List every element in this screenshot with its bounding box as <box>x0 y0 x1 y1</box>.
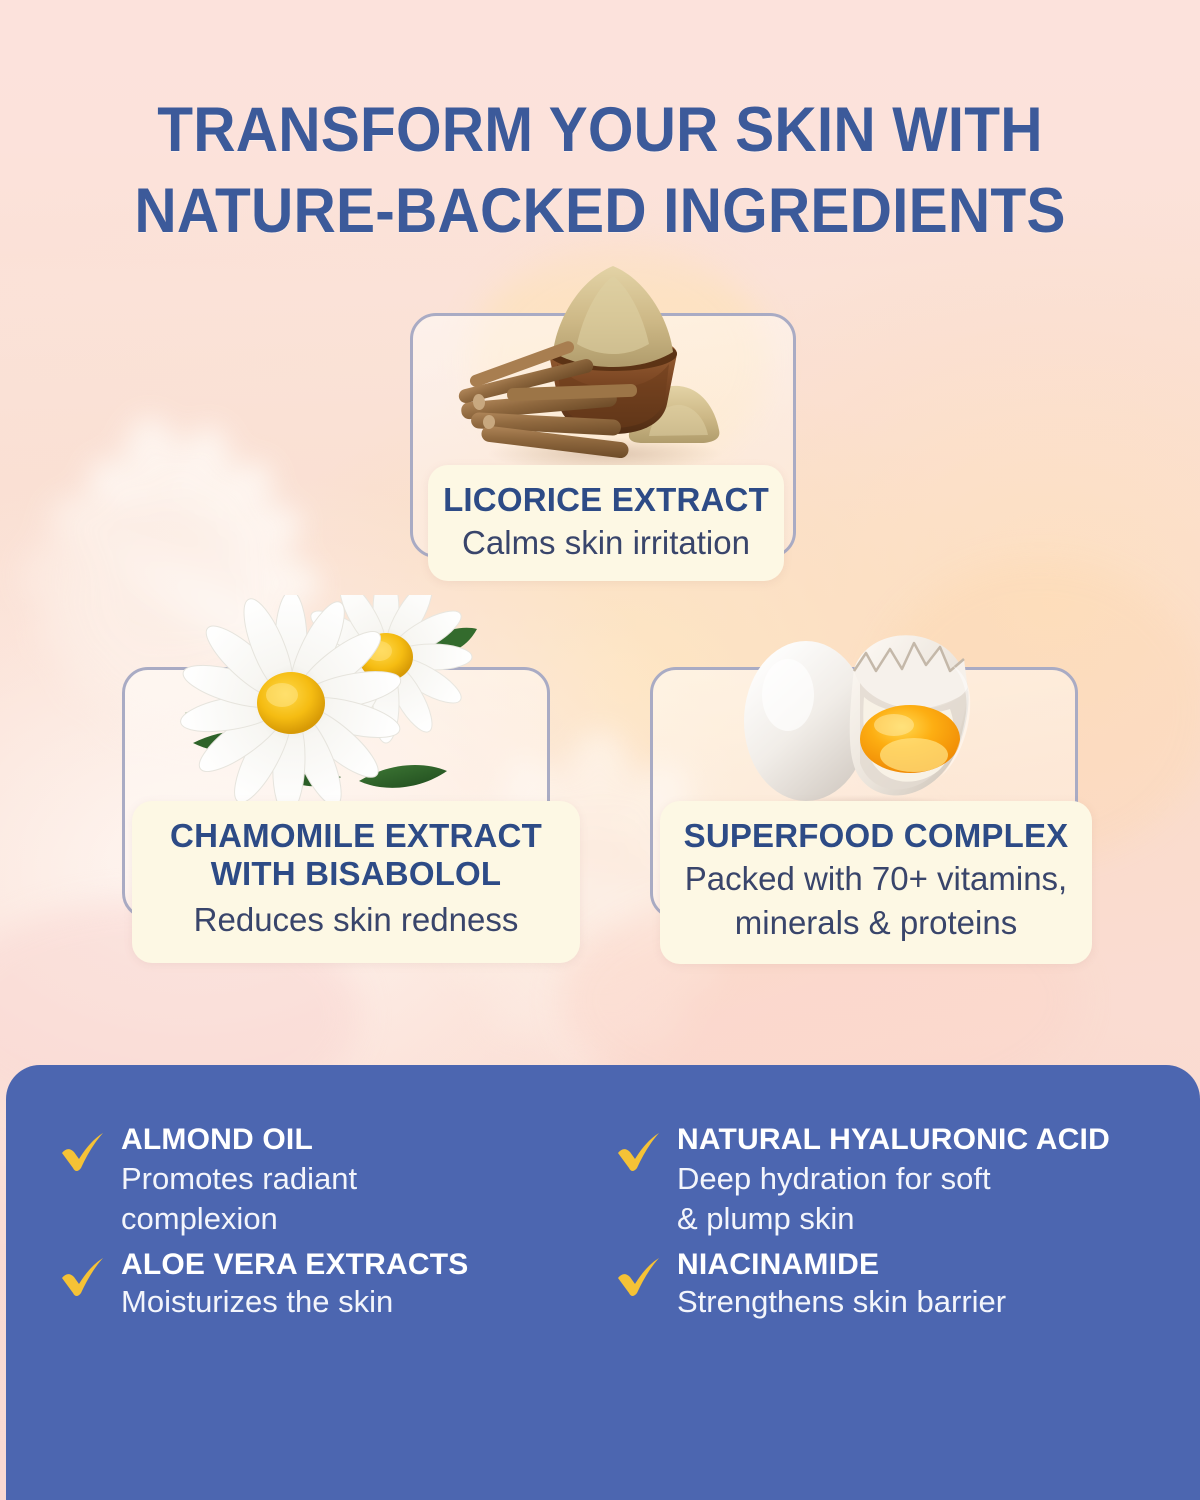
benefits-grid: ALMOND OIL Promotes radiant complexion N… <box>58 1123 1166 1321</box>
ingredient-card-licorice[interactable]: LICORICE EXTRACT Calms skin irritation <box>410 313 796 558</box>
card-label: SUPERFOOD COMPLEX Packed with 70+ vitami… <box>660 801 1092 964</box>
benefit-desc-line-2: & plump skin <box>677 1200 1110 1238</box>
benefit-title: NATURAL HYALURONIC ACID <box>677 1123 1110 1157</box>
chamomile-flowers-image <box>122 595 550 825</box>
card-title-line-1: CHAMOMILE EXTRACT <box>144 817 568 855</box>
benefit-title: ALOE VERA EXTRACTS <box>121 1248 469 1282</box>
card-title: SUPERFOOD COMPLEX <box>672 817 1080 855</box>
check-icon <box>614 1252 662 1300</box>
card-title-line-2: WITH BISABOLOL <box>144 855 568 893</box>
page-title: TRANSFORM YOUR SKIN WITH NATURE-BACKED I… <box>42 90 1158 251</box>
headline-line-1: TRANSFORM YOUR SKIN WITH <box>157 95 1042 165</box>
check-icon <box>614 1127 662 1175</box>
ingredients-infographic: TRANSFORM YOUR SKIN WITH NATURE-BACKED I… <box>0 0 1200 1500</box>
benefit-item-almond-oil[interactable]: ALMOND OIL Promotes radiant complexion <box>58 1123 588 1238</box>
card-label: CHAMOMILE EXTRACT WITH BISABOLOL Reduces… <box>132 801 580 963</box>
benefit-desc-line-1: Strengthens skin barrier <box>677 1283 1006 1321</box>
card-subtitle-line-1: Packed with 70+ vitamins, <box>672 859 1080 899</box>
benefit-desc-line-1: Moisturizes the skin <box>121 1283 469 1321</box>
card-subtitle-line-2: minerals & proteins <box>672 903 1080 943</box>
benefit-text: ALOE VERA EXTRACTS Moisturizes the skin <box>121 1248 469 1320</box>
benefit-text: NATURAL HYALURONIC ACID Deep hydration f… <box>677 1123 1110 1238</box>
cracked-egg-image <box>650 613 1078 825</box>
headline-line-2: NATURE-BACKED INGREDIENTS <box>42 171 1158 252</box>
benefit-desc-line-1: Promotes radiant <box>121 1160 357 1198</box>
benefit-text: ALMOND OIL Promotes radiant complexion <box>121 1123 357 1238</box>
benefit-desc-line-2: complexion <box>121 1200 357 1238</box>
benefit-item-niacinamide[interactable]: NIACINAMIDE Strengthens skin barrier <box>614 1248 1166 1320</box>
licorice-root-image <box>410 258 796 473</box>
benefit-item-natural-hyaluronic-acid[interactable]: NATURAL HYALURONIC ACID Deep hydration f… <box>614 1123 1166 1238</box>
benefit-item-aloe-vera-extracts[interactable]: ALOE VERA EXTRACTS Moisturizes the skin <box>58 1248 588 1320</box>
benefits-panel: ALMOND OIL Promotes radiant complexion N… <box>6 1065 1200 1500</box>
ingredient-card-chamomile[interactable]: CHAMOMILE EXTRACT WITH BISABOLOL Reduces… <box>122 667 550 919</box>
check-icon <box>58 1252 106 1300</box>
benefit-desc-line-1: Deep hydration for soft <box>677 1160 1110 1198</box>
card-subtitle: Calms skin irritation <box>440 523 772 563</box>
card-subtitle: Reduces skin redness <box>144 900 568 940</box>
card-label: LICORICE EXTRACT Calms skin irritation <box>428 465 784 581</box>
benefit-title: NIACINAMIDE <box>677 1248 1006 1282</box>
card-title: LICORICE EXTRACT <box>440 481 772 519</box>
ingredient-card-superfood[interactable]: SUPERFOOD COMPLEX Packed with 70+ vitami… <box>650 667 1078 919</box>
check-icon <box>58 1127 106 1175</box>
benefit-title: ALMOND OIL <box>121 1123 357 1157</box>
benefit-text: NIACINAMIDE Strengthens skin barrier <box>677 1248 1006 1320</box>
